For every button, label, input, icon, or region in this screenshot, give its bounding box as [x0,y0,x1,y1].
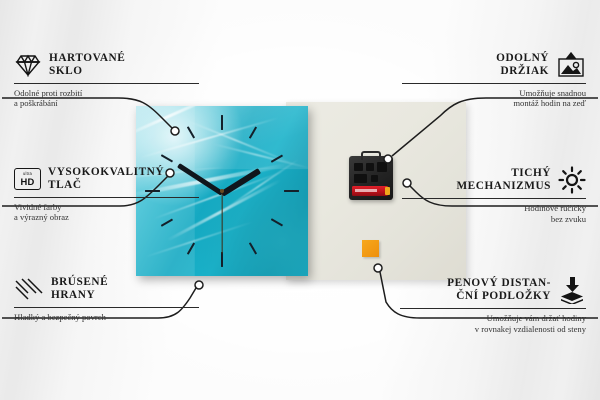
clock-mechanism [349,156,393,200]
feature-foam-spacers: PENOVÝ DISTAN- ČNÍ PODLOŽKY Umožňuje vám… [400,276,586,334]
feature-title-line2: HRANY [51,289,95,301]
feature-desc-line1: Hladký a bezpečný povrch [14,312,106,322]
divider [402,198,586,199]
stacked-pads-arrow-icon [558,276,586,304]
feature-desc-line2: v rovnakej vzdialenosti od steny [475,324,586,334]
hd-badge-main: HD [21,177,35,186]
divider [400,308,586,309]
feature-desc-line1: Odolné proti rozbití [14,88,82,98]
picture-frame-icon [556,52,586,78]
feature-tempered-glass: HARTOVANÉ SKLO Odolné proti rozbití a po… [14,52,199,109]
feature-title-line1: ODOLNÝ [496,52,549,64]
feature-durable-holder: ODOLNÝ DRŽIAK Umožňuje snadnou montáž ho… [402,52,586,109]
ultra-hd-icon: ultra HD [14,168,41,190]
foam-spacer-pad [362,240,379,257]
second-hand [221,192,222,254]
feature-title-line1: VYSOKOKVALITNÝ [48,166,164,178]
diamond-icon [14,53,42,77]
feature-title-line2: SKLO [49,65,83,77]
divider [14,197,199,198]
product-infographic: HARTOVANÉ SKLO Odolné proti rozbití a po… [0,0,600,400]
clock-center-pin [220,189,224,193]
feature-title-line1: TICHÝ [511,167,551,179]
feature-title-line1: BRÚSENÉ [51,276,108,288]
divider [14,307,199,308]
feature-desc-line2: bez zvuku [551,214,586,224]
feature-silent-mechanism: TICHÝ MECHANIZMUS Hodinové ručičky bez z… [402,166,586,224]
feature-title-line2: TLAČ [48,179,82,191]
feature-desc-line1: Umožňuje vám držať hodiny [487,313,586,323]
feature-title-line2: MECHANIZMUS [456,180,551,192]
feature-desc-line1: Umožňuje snadnou [519,88,586,98]
feature-desc-line2: a poškrábání [14,98,58,108]
feature-high-quality-print: ultra HD VYSOKOKVALITNÝ TLAČ Vividné far… [14,166,199,223]
mechanism-hanger [361,151,381,160]
polished-edge-icon [14,277,44,301]
feature-title-line1: HARTOVANÉ [49,52,125,64]
feature-title-line2: DRŽIAK [501,65,550,77]
feature-polished-edges: BRÚSENÉ HRANY Hladký a bezpečný povrch [14,276,199,322]
feature-desc-line2: a výrazný obraz [14,212,69,222]
battery [352,186,388,196]
divider [402,83,586,84]
feature-title-line1: PENOVÝ DISTAN- [447,277,551,289]
gear-icon [558,166,586,194]
feature-desc-line1: Vividné farby [14,202,61,212]
divider [14,83,199,84]
feature-desc-line2: montáž hodin na zeď [513,98,586,108]
feature-desc-line1: Hodinové ručičky [524,203,586,213]
feature-title-line2: ČNÍ PODLOŽKY [456,290,551,302]
